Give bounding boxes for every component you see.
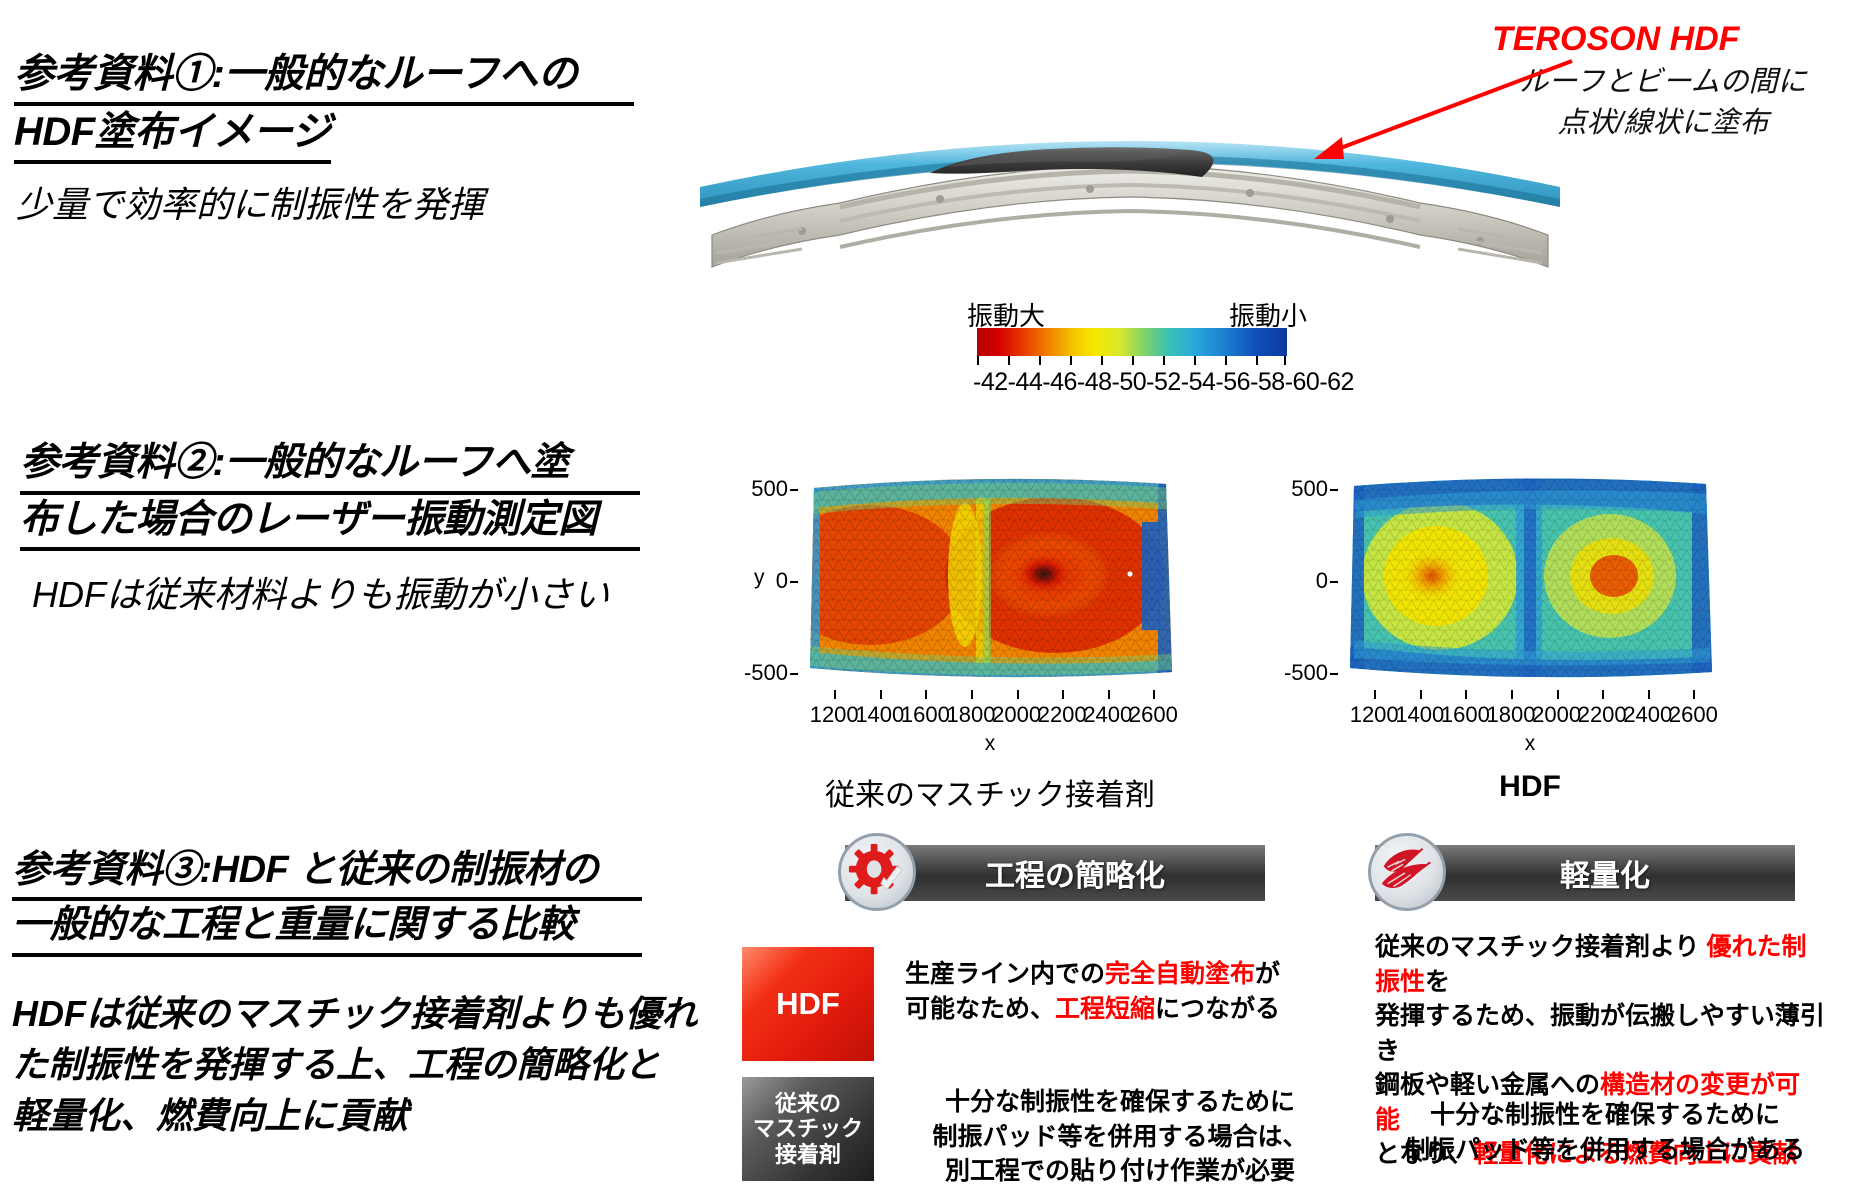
section2-heading-line1: 参考資料②:一般的なルーフへ塗 <box>20 438 640 495</box>
ytick: 500 <box>751 476 788 502</box>
chip-conventional-mastic: 従来の マスチック 接着剤 <box>742 1077 874 1181</box>
xtick: 2400 <box>1083 702 1132 728</box>
section2-heading: 参考資料②:一般的なルーフへ塗 布した場合のレーザー振動測定図 <box>20 438 640 551</box>
text-legacy-process: 十分な制振性を確保するために制振パッド等を併用する場合は、別工程での貼り付け作業… <box>905 1085 1335 1189</box>
heatmap-left-xtick-labels: 1200 1400 1600 1800 2000 2200 2400 2600 <box>800 702 1180 728</box>
xtick: 1600 <box>901 702 950 728</box>
text-hdf-process: 生産ライン内での完全自動塗布が可能なため、工程短縮につながる <box>905 957 1335 1026</box>
heatmap-hdf: y 500 0 -500 <box>1340 470 1720 685</box>
heatmap-left-xticks <box>800 690 1180 702</box>
section1-heading: 参考資料①:一般的なルーフへの HDF塗布イメージ <box>14 48 634 164</box>
callout-arrow-icon <box>1280 55 1580 175</box>
xtick: 2000 <box>992 702 1041 728</box>
heatmap-left-canvas <box>800 470 1180 685</box>
xtick: 2400 <box>1623 702 1672 728</box>
colorbar-tick-labels: -42-44-46-48-50-52-54-56-58-60-62 <box>973 368 1303 397</box>
teroson-title: TEROSON HDF <box>1492 20 1739 59</box>
vibration-colorbar: 振動大 振動小 -42-44-46-48-50-52-54-56-58-60-6… <box>973 296 1303 397</box>
xtick: 2200 <box>1578 702 1627 728</box>
xtick: 2600 <box>1669 702 1718 728</box>
heatmap-right-caption: HDF <box>1340 770 1720 804</box>
ytick: 0 <box>1316 568 1328 594</box>
heatmap-left-xlabel: x <box>800 732 1180 756</box>
section2-heading-line2: 布した場合のレーザー振動測定図 <box>20 495 640 552</box>
heatmap-left-caption: 従来のマスチック接着剤 <box>800 770 1180 814</box>
xtick: 1200 <box>1350 702 1399 728</box>
section1-subtitle: 少量で効率的に制振性を発揮 <box>16 180 484 230</box>
colorbar-endpoint-labels: 振動大 振動小 <box>973 296 1303 328</box>
xtick: 2200 <box>1038 702 1087 728</box>
heatmap-conventional: y 500 0 -500 <box>800 470 1180 685</box>
xtick: 1200 <box>810 702 859 728</box>
heatmap-right-yticks: 500 0 -500 <box>1298 470 1338 685</box>
section3-subtitle: HDFは従来のマスチック接着剤よりも優れ た制振性を発揮する上、工程の簡略化と … <box>12 988 697 1141</box>
heatmap-right-xlabel: x <box>1340 732 1720 756</box>
section1-heading-line1: 参考資料①:一般的なルーフへの <box>14 48 634 106</box>
colorbar-label-high-vibration: 振動大 <box>967 296 1045 333</box>
xtick: 1400 <box>855 702 904 728</box>
ytick: 500 <box>1291 476 1328 502</box>
xtick: 2600 <box>1129 702 1178 728</box>
xtick: 1800 <box>947 702 996 728</box>
banner-left-label: 工程の簡略化 <box>945 851 1165 895</box>
heatmap-right-xticks <box>1340 690 1720 702</box>
xtick: 1800 <box>1487 702 1536 728</box>
feather-icon <box>1368 833 1446 911</box>
ytick: -500 <box>744 660 788 686</box>
xtick: 1600 <box>1441 702 1490 728</box>
xtick: 1400 <box>1395 702 1444 728</box>
ytick: 0 <box>776 568 788 594</box>
section3-heading-line1: 参考資料③:HDF と従来の制振材の <box>12 846 642 901</box>
heatmap-right-xtick-labels: 1200 1400 1600 1800 2000 2200 2400 2600 <box>1340 702 1720 728</box>
colorbar-label-low-vibration: 振動小 <box>1229 296 1307 333</box>
slide-root: 参考資料①:一般的なルーフへの HDF塗布イメージ 少量で効率的に制振性を発揮 … <box>0 0 1870 1196</box>
heatmap-left-yticks: 500 0 -500 <box>758 470 798 685</box>
text-legacy-weight: 十分な制振性を確保するために制振パッド等を併用する場合がある <box>1395 1098 1815 1167</box>
section2-subtitle: HDFは従来材料よりも振動が小さい <box>32 570 609 620</box>
gear-icon <box>838 833 916 911</box>
section1-heading-line2: HDF塗布イメージ <box>14 106 331 164</box>
xtick: 2000 <box>1532 702 1581 728</box>
banner-right-label: 軽量化 <box>1520 851 1650 895</box>
colorbar-ticks <box>977 356 1287 366</box>
heatmap-right-canvas <box>1340 470 1720 685</box>
section3-heading-line2: 一般的な工程と重量に関する比較 <box>12 901 642 956</box>
ytick: -500 <box>1284 660 1328 686</box>
section3-heading: 参考資料③:HDF と従来の制振材の 一般的な工程と重量に関する比較 <box>12 846 642 957</box>
chip-hdf: HDF <box>742 947 874 1061</box>
